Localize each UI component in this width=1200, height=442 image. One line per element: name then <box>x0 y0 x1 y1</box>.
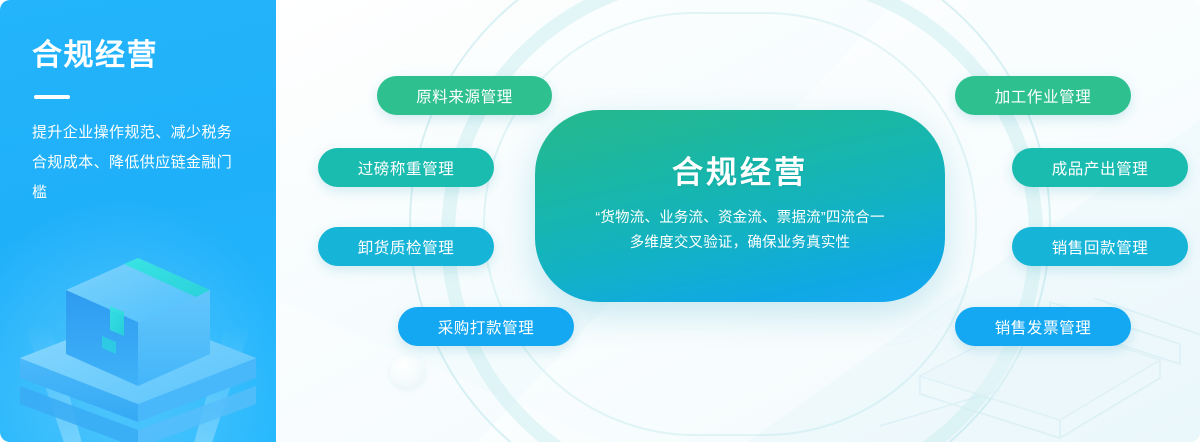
compliance-operation-infographic: 合规经营 提升企业操作规范、减少税务合规成本、降低供应链金融门槛 <box>0 0 1200 442</box>
pill-left-1[interactable]: 原料来源管理 <box>377 76 552 115</box>
pill-right-3[interactable]: 销售回款管理 <box>1012 227 1188 266</box>
isometric-package-box-icon <box>6 208 274 442</box>
sidebar-description: 提升企业操作规范、减少税务合规成本、降低供应链金融门槛 <box>32 118 244 208</box>
center-card: 合规经营 “货物流、业务流、资金流、票据流”四流合一 多维度交叉验证，确保业务真… <box>535 110 945 302</box>
center-card-title: 合规经营 <box>672 156 808 190</box>
pill-left-2[interactable]: 过磅称重管理 <box>318 148 494 187</box>
pill-right-2[interactable]: 成品产出管理 <box>1012 148 1188 187</box>
sidebar-divider <box>34 95 70 99</box>
center-card-subtitle: “货物流、业务流、资金流、票据流”四流合一 多维度交叉验证，确保业务真实性 <box>595 206 884 256</box>
main-panel: 合规经营 “货物流、业务流、资金流、票据流”四流合一 多维度交叉验证，确保业务真… <box>277 0 1200 442</box>
sidebar: 合规经营 提升企业操作规范、减少税务合规成本、降低供应链金融门槛 <box>0 0 276 442</box>
pill-left-3[interactable]: 卸货质检管理 <box>318 227 494 266</box>
pill-left-4[interactable]: 采购打款管理 <box>398 307 574 346</box>
pill-right-1[interactable]: 加工作业管理 <box>955 76 1131 115</box>
sidebar-title: 合规经营 <box>32 38 158 74</box>
pill-right-4[interactable]: 销售发票管理 <box>955 307 1131 346</box>
